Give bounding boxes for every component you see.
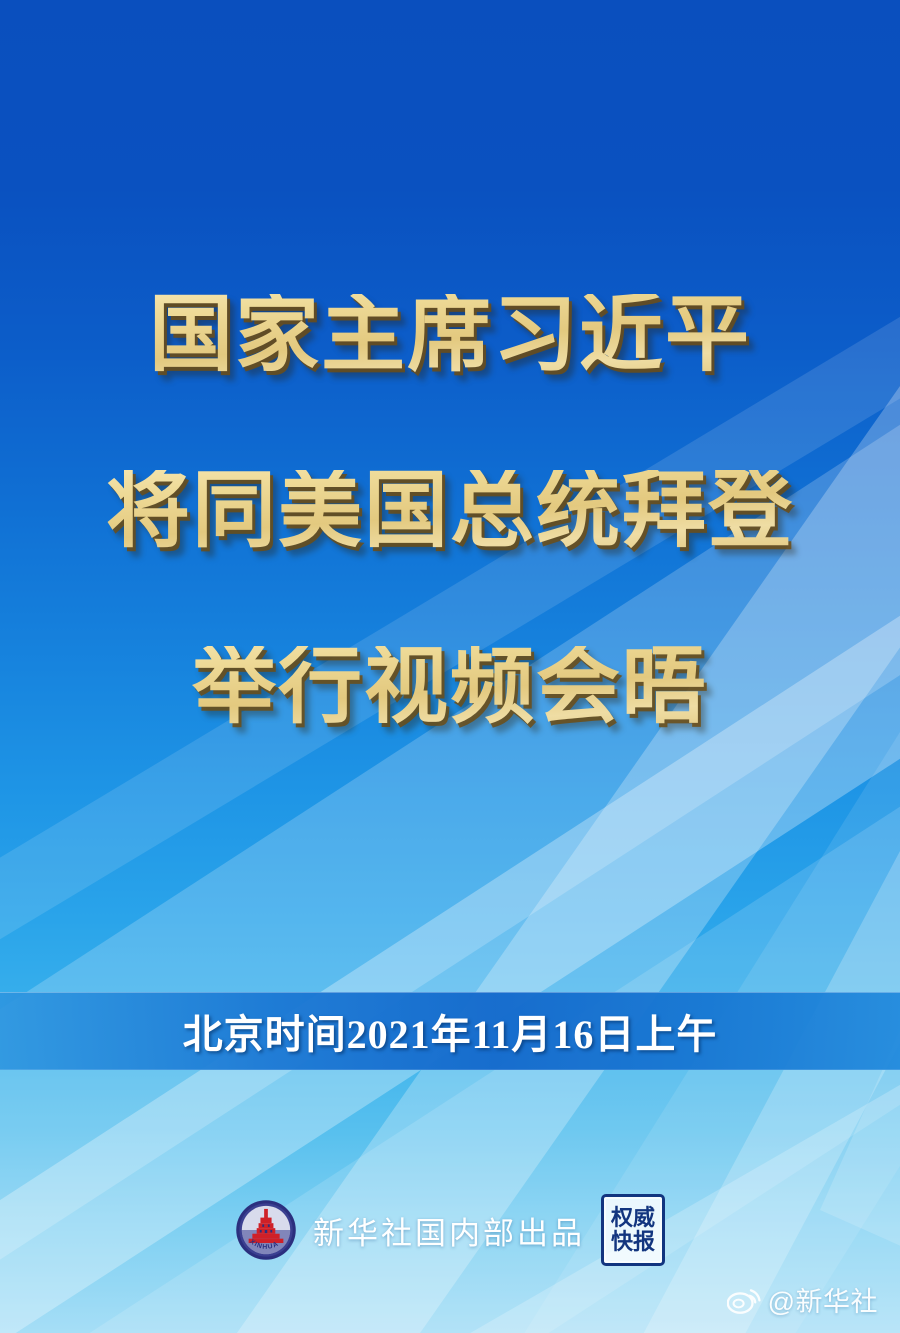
subtitle-band: 北京时间2021年11月16日上午 bbox=[0, 992, 900, 1070]
weibo-watermark: @新华社 bbox=[727, 1280, 878, 1319]
weibo-icon bbox=[727, 1286, 761, 1314]
headline-line-1: 国家主席习近平 bbox=[0, 294, 900, 378]
weibo-handle: @新华社 bbox=[768, 1280, 878, 1319]
authority-stamp-badge: 权威 快报 bbox=[601, 1194, 665, 1266]
headline-block: 国家主席习近平 将同美国总统拜登 举行视频会晤 bbox=[0, 294, 900, 730]
subtitle-text: 北京时间2021年11月16日上午 bbox=[183, 1002, 718, 1060]
headline-line-3: 举行视频会晤 bbox=[0, 646, 900, 730]
headline-line-2: 将同美国总统拜登 bbox=[0, 470, 900, 554]
credit-text: 新华社国内部出品 bbox=[313, 1208, 585, 1253]
stamp-line-1: 权威 bbox=[611, 1206, 655, 1230]
footer-credit-row: XINHUA 新华社国内部出品 权威 快报 bbox=[0, 1194, 900, 1266]
xinhua-logo-icon: XINHUA bbox=[235, 1199, 297, 1261]
stamp-line-2: 快报 bbox=[611, 1230, 655, 1254]
poster-canvas: 国家主席习近平 将同美国总统拜登 举行视频会晤 北京时间2021年11月16日上… bbox=[0, 0, 900, 1333]
